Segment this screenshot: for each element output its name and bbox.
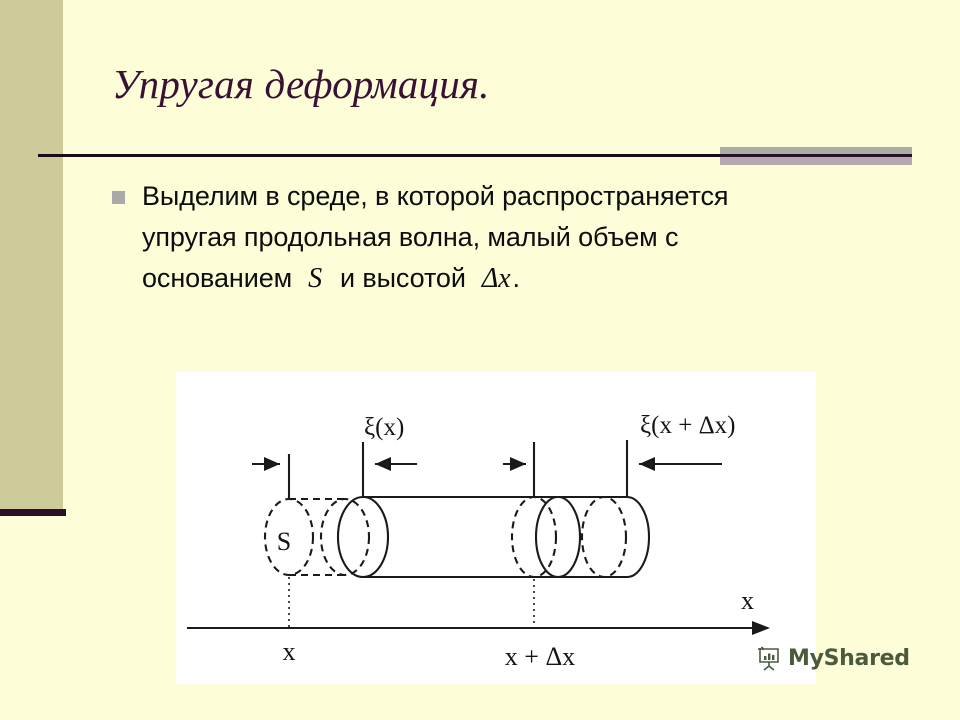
label-displacement-right: ξ(x + Δx) <box>640 412 735 439</box>
arrowhead-4 <box>639 457 655 471</box>
label-tick-x: x <box>283 637 296 666</box>
arrowhead-1 <box>264 457 280 471</box>
bullet-text-segment-2: и высотой <box>340 263 466 293</box>
right-end-cap-front-arc <box>627 497 649 577</box>
left-decorative-band <box>0 0 63 509</box>
inline-math-area-S: S <box>306 263 324 294</box>
arrowhead-x-axis <box>752 621 770 635</box>
figure-panel: S ξ(x) ξ(x + Δx) x x x + Δx <box>176 372 816 684</box>
slide-title: Упругая деформация. <box>112 60 812 108</box>
bullet-text-segment-3: . <box>512 263 519 293</box>
label-area-S: S <box>277 527 291 556</box>
mid-face-front-arc <box>558 497 580 577</box>
undisplaced-right-face <box>512 497 556 577</box>
square-bullet-icon <box>112 191 125 204</box>
bullet-paragraph: Выделим в среде, в которой распространяе… <box>142 176 812 299</box>
mid-face-solid-arc <box>536 497 558 577</box>
label-axis-x: x <box>741 586 754 615</box>
arrowhead-2 <box>375 457 391 471</box>
presentation-chart-icon <box>756 645 782 671</box>
presentation-slide: Упругая деформация. Выделим в среде, в к… <box>0 0 960 720</box>
projection-lines <box>289 577 534 628</box>
bullet-block: Выделим в среде, в которой распространяе… <box>112 176 812 299</box>
label-displacement-left: ξ(x) <box>364 414 404 441</box>
label-tick-x-plus-dx: x + Δx <box>505 642 575 671</box>
arrowheads <box>264 457 770 635</box>
watermark: MyShared <box>756 645 910 671</box>
header-accent-bar <box>720 147 912 165</box>
arrowhead-3 <box>510 457 526 471</box>
left-band-accent-rule <box>0 509 66 516</box>
inline-math-delta-x: Δx <box>480 263 513 294</box>
left-end-cap <box>338 497 388 577</box>
watermark-label: MyShared <box>788 646 910 671</box>
cylinder-diagram-svg: S ξ(x) ξ(x + Δx) x x x + Δx <box>176 372 816 684</box>
